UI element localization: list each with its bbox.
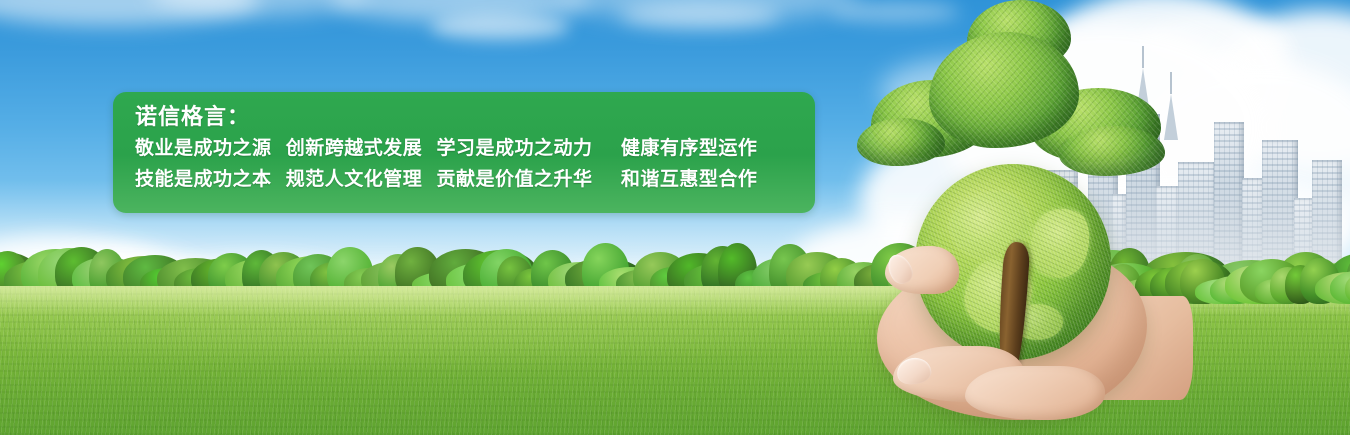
tower-spire bbox=[1164, 94, 1178, 140]
cloud-icon bbox=[830, 2, 960, 22]
motto-panel: 诺信格言： 敬业是成功之源 创新跨越式发展 学习是成功之动力 健康有序型运作 技… bbox=[113, 92, 815, 213]
tower-antenna bbox=[1142, 46, 1144, 68]
motto-line-1: 敬业是成功之源 创新跨越式发展 学习是成功之动力 健康有序型运作 bbox=[135, 133, 815, 164]
tree-canopy-icon bbox=[857, 118, 945, 166]
motto-line-2: 技能是成功之本 规范人文化管理 贡献是价值之升华 和谐互惠型合作 bbox=[135, 164, 815, 195]
motto-title: 诺信格言： bbox=[135, 103, 815, 133]
cloud-icon bbox=[620, 4, 780, 28]
tree-canopy-icon bbox=[1059, 126, 1165, 176]
hero-banner: 诺信格言： 敬业是成功之源 创新跨越式发展 学习是成功之动力 健康有序型运作 技… bbox=[0, 0, 1350, 435]
finger bbox=[965, 366, 1105, 420]
tower-antenna bbox=[1170, 72, 1172, 94]
hands-holding-globe bbox=[855, 150, 1185, 435]
globe-continent bbox=[1022, 201, 1099, 285]
cloud-icon bbox=[430, 14, 570, 40]
